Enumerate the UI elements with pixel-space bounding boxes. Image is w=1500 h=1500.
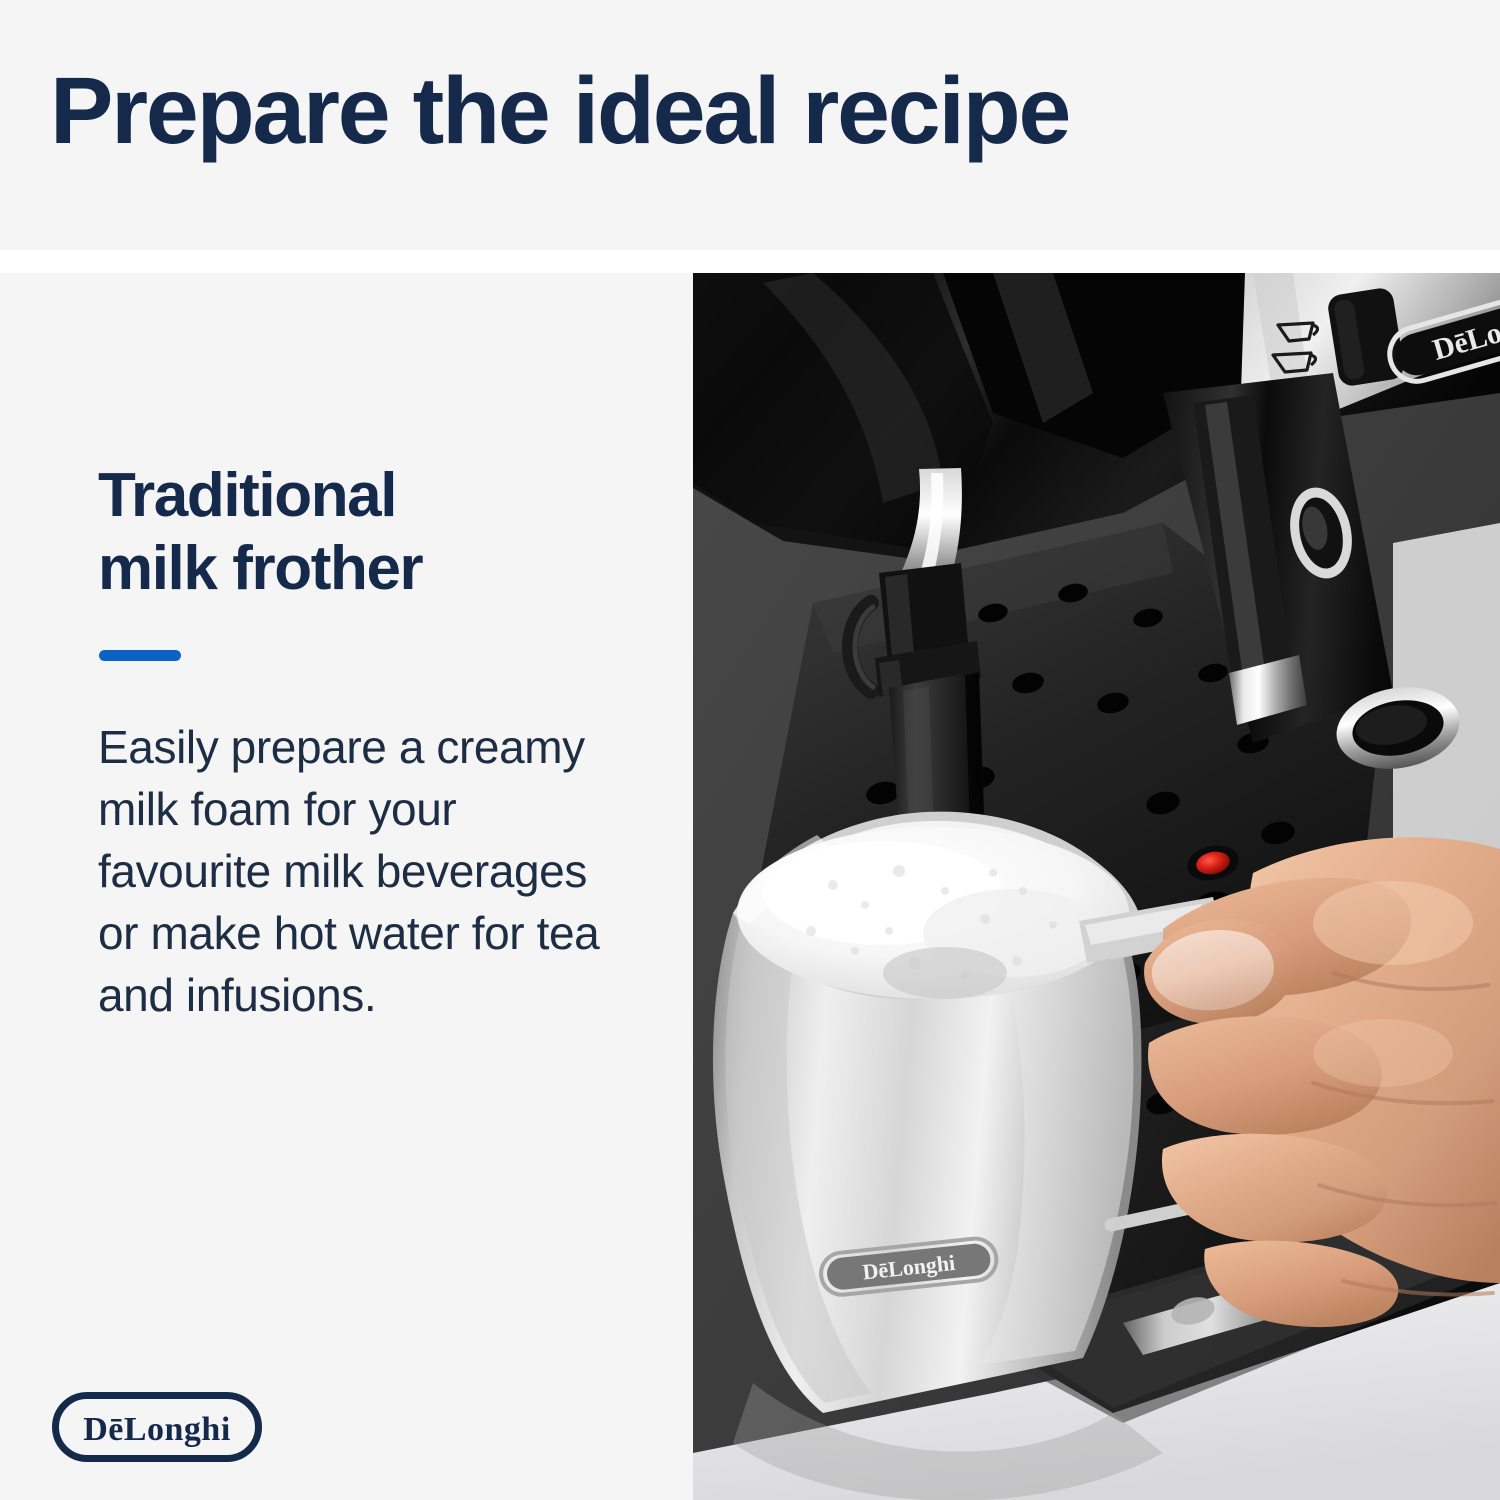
product-feature-page: Prepare the ideal recipe Traditional mil…: [0, 0, 1500, 1500]
page-header: Prepare the ideal recipe: [0, 0, 1500, 250]
svg-text:DēLonghi: DēLonghi: [83, 1411, 231, 1448]
product-photo: DēLong: [693, 273, 1500, 1500]
page-title: Prepare the ideal recipe: [50, 62, 1069, 162]
feature-description: Easily prepare a creamy milk foam for yo…: [98, 716, 608, 1026]
feature-heading-line-2: milk frother: [98, 534, 422, 603]
feature-heading: Traditional milk frother: [98, 459, 618, 605]
feature-text-column: Traditional milk frother Easily prepare …: [0, 273, 693, 1500]
feature-heading-line-1: Traditional: [98, 461, 396, 530]
accent-divider: [99, 650, 181, 661]
header-divider: [0, 250, 1500, 273]
delonghi-logo: DēLonghi: [52, 1392, 262, 1462]
milk-pitcher: DēLonghi: [713, 812, 1141, 1413]
